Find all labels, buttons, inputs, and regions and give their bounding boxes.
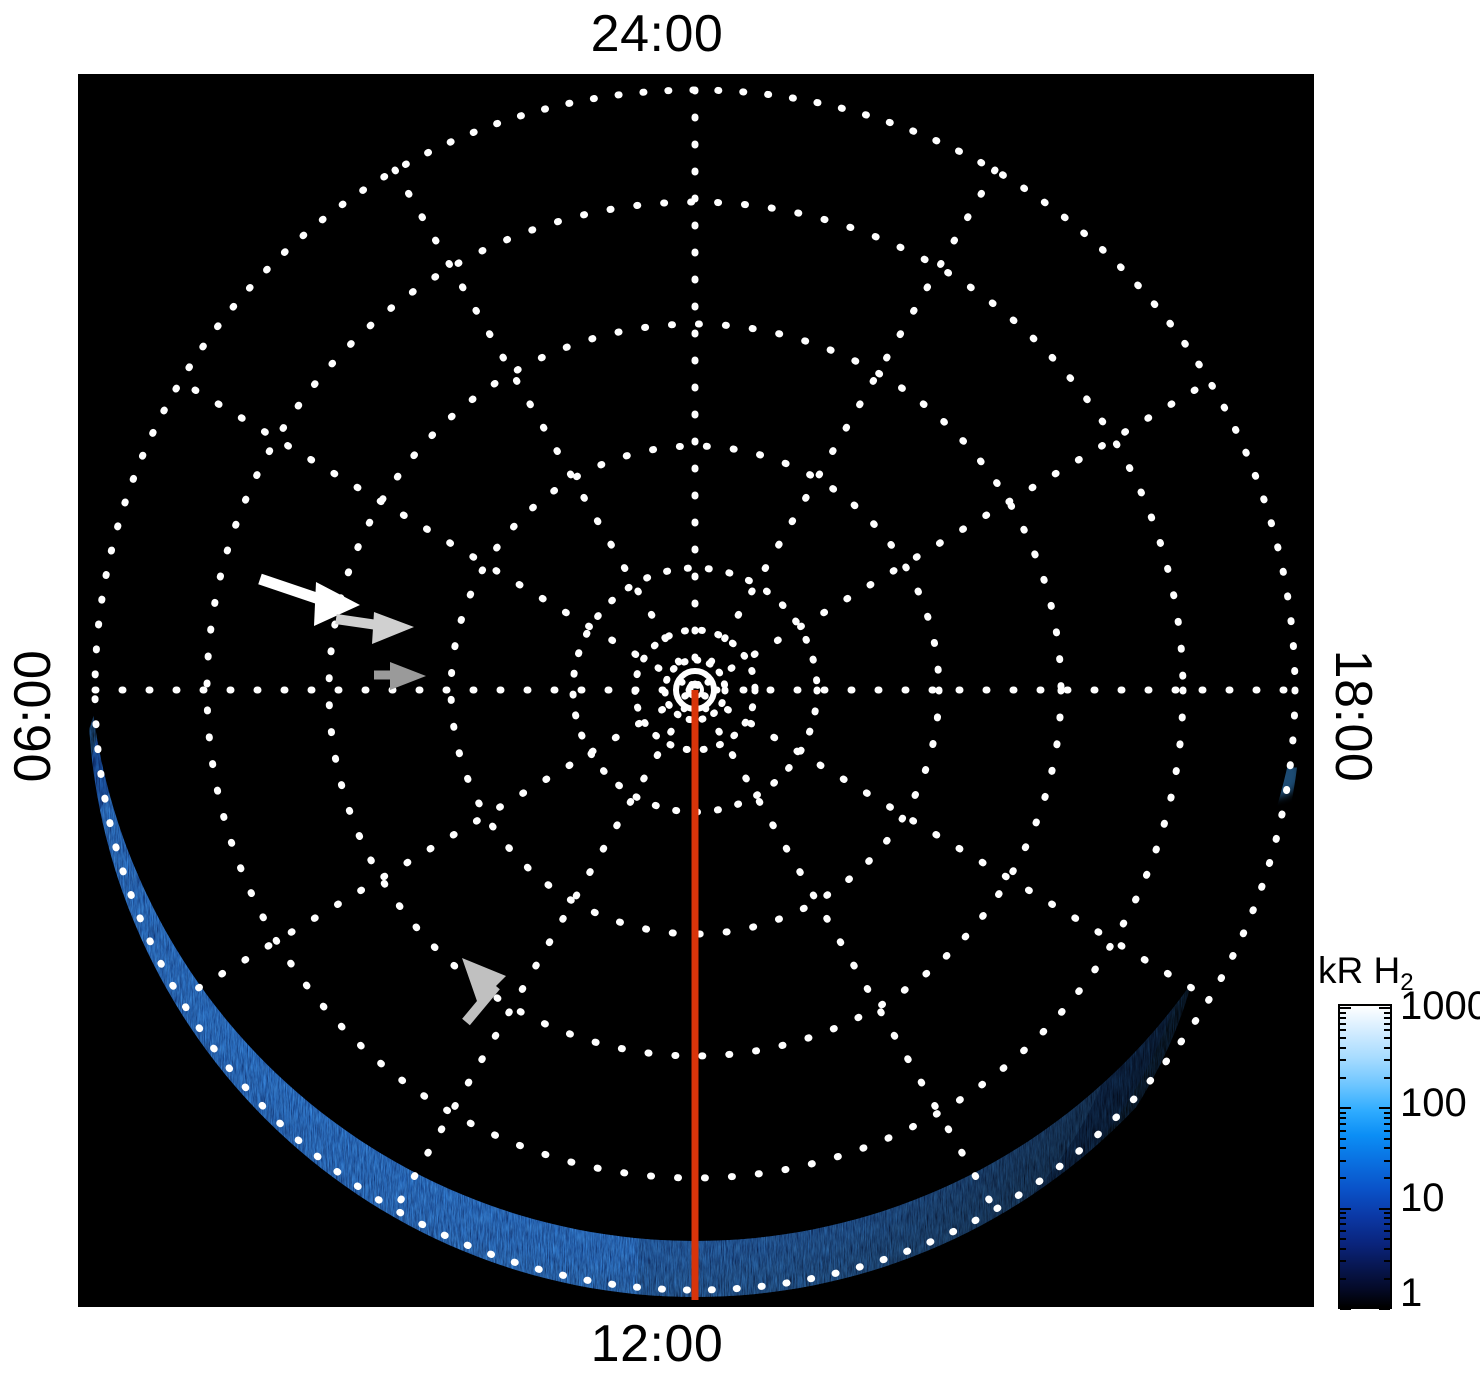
colorbar-title-main: kR H — [1318, 950, 1400, 991]
colorbar-tick-label-10: 10 — [1400, 1178, 1445, 1218]
axis-label-top: 24:00 — [0, 8, 1314, 60]
colorbar-tick-label-1000: 1000 — [1400, 986, 1480, 1026]
colorbar-tick-label-100: 100 — [1400, 1083, 1467, 1123]
axis-label-left: 06:00 — [7, 621, 59, 811]
aurora-polar-map — [78, 74, 1314, 1307]
polar-plot-panel[interactable] — [78, 74, 1314, 1307]
colorbar-ticks — [1340, 1006, 1390, 1307]
colorbar-gradient[interactable] — [1338, 1004, 1392, 1309]
colorbar-tick-label-1: 1 — [1400, 1273, 1422, 1313]
axis-label-bottom: 12:00 — [0, 1318, 1314, 1370]
colorbar: kR H2 1000 100 10 1 — [1318, 950, 1480, 1320]
axis-label-right: 18:00 — [1327, 621, 1379, 811]
